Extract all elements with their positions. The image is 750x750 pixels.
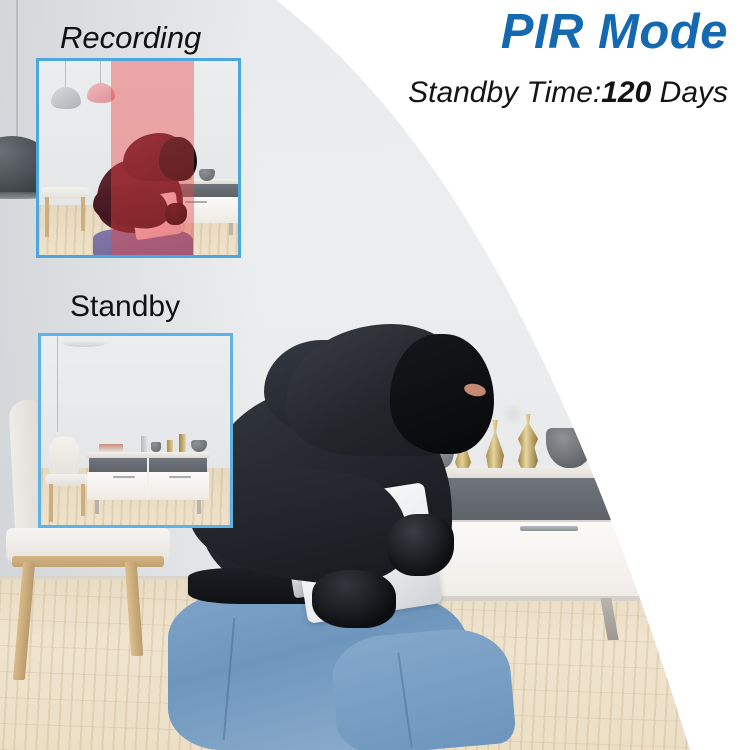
standby-time-label: Standby Time: — [408, 76, 601, 109]
page-title: PIR Mode — [501, 8, 728, 57]
thumb-chair-leg — [81, 484, 85, 516]
standby-time-unit: Days — [651, 76, 728, 109]
product-banner: PIR Mode Standby Time:120 Days Recording — [0, 0, 750, 750]
thumb-decor-candlestick — [179, 434, 186, 452]
burglar-jeans-leg — [329, 624, 517, 750]
thumb-decor-vase — [141, 436, 148, 452]
thumb-chair-leg — [45, 197, 49, 237]
pendant-lamp-cord — [16, 0, 18, 140]
thumb-lamp-cord — [57, 336, 58, 432]
standby-label: Standby — [70, 292, 180, 322]
thumb-sideboard-leg — [95, 500, 99, 514]
thumb-decor-vase — [167, 440, 173, 452]
thumb-sideboard-leg — [197, 500, 201, 514]
decor-dried-sprig — [500, 400, 526, 424]
thumb-chair-leg — [81, 197, 85, 231]
sideboard-handle — [520, 526, 578, 531]
burglar-glove-icon — [388, 514, 454, 576]
burglar-glove-icon — [312, 570, 396, 628]
thumb-decor-books — [99, 444, 123, 452]
recording-thumbnail[interactable] — [36, 58, 241, 258]
recording-label: Recording — [60, 22, 201, 53]
thumb-lamp-cord — [100, 61, 101, 85]
standby-time-subtitle: Standby Time:120 Days — [408, 78, 728, 108]
thumb-sideboard-divider — [147, 458, 149, 500]
standby-time-value: 120 — [601, 76, 651, 109]
thumb-sideboard-leg — [229, 223, 233, 235]
thumb-decor-pot — [151, 442, 161, 452]
thumb-sideboard-handle — [169, 476, 191, 478]
thumb-lamp-cord — [65, 61, 66, 89]
standby-scene — [41, 336, 230, 525]
thumb-chair-leg — [49, 484, 53, 522]
thumb-ceiling-light-icon — [63, 340, 105, 347]
thumb-sideboard-handle — [113, 476, 135, 478]
standby-thumbnail[interactable] — [38, 333, 233, 528]
motion-detection-overlay — [111, 61, 195, 255]
